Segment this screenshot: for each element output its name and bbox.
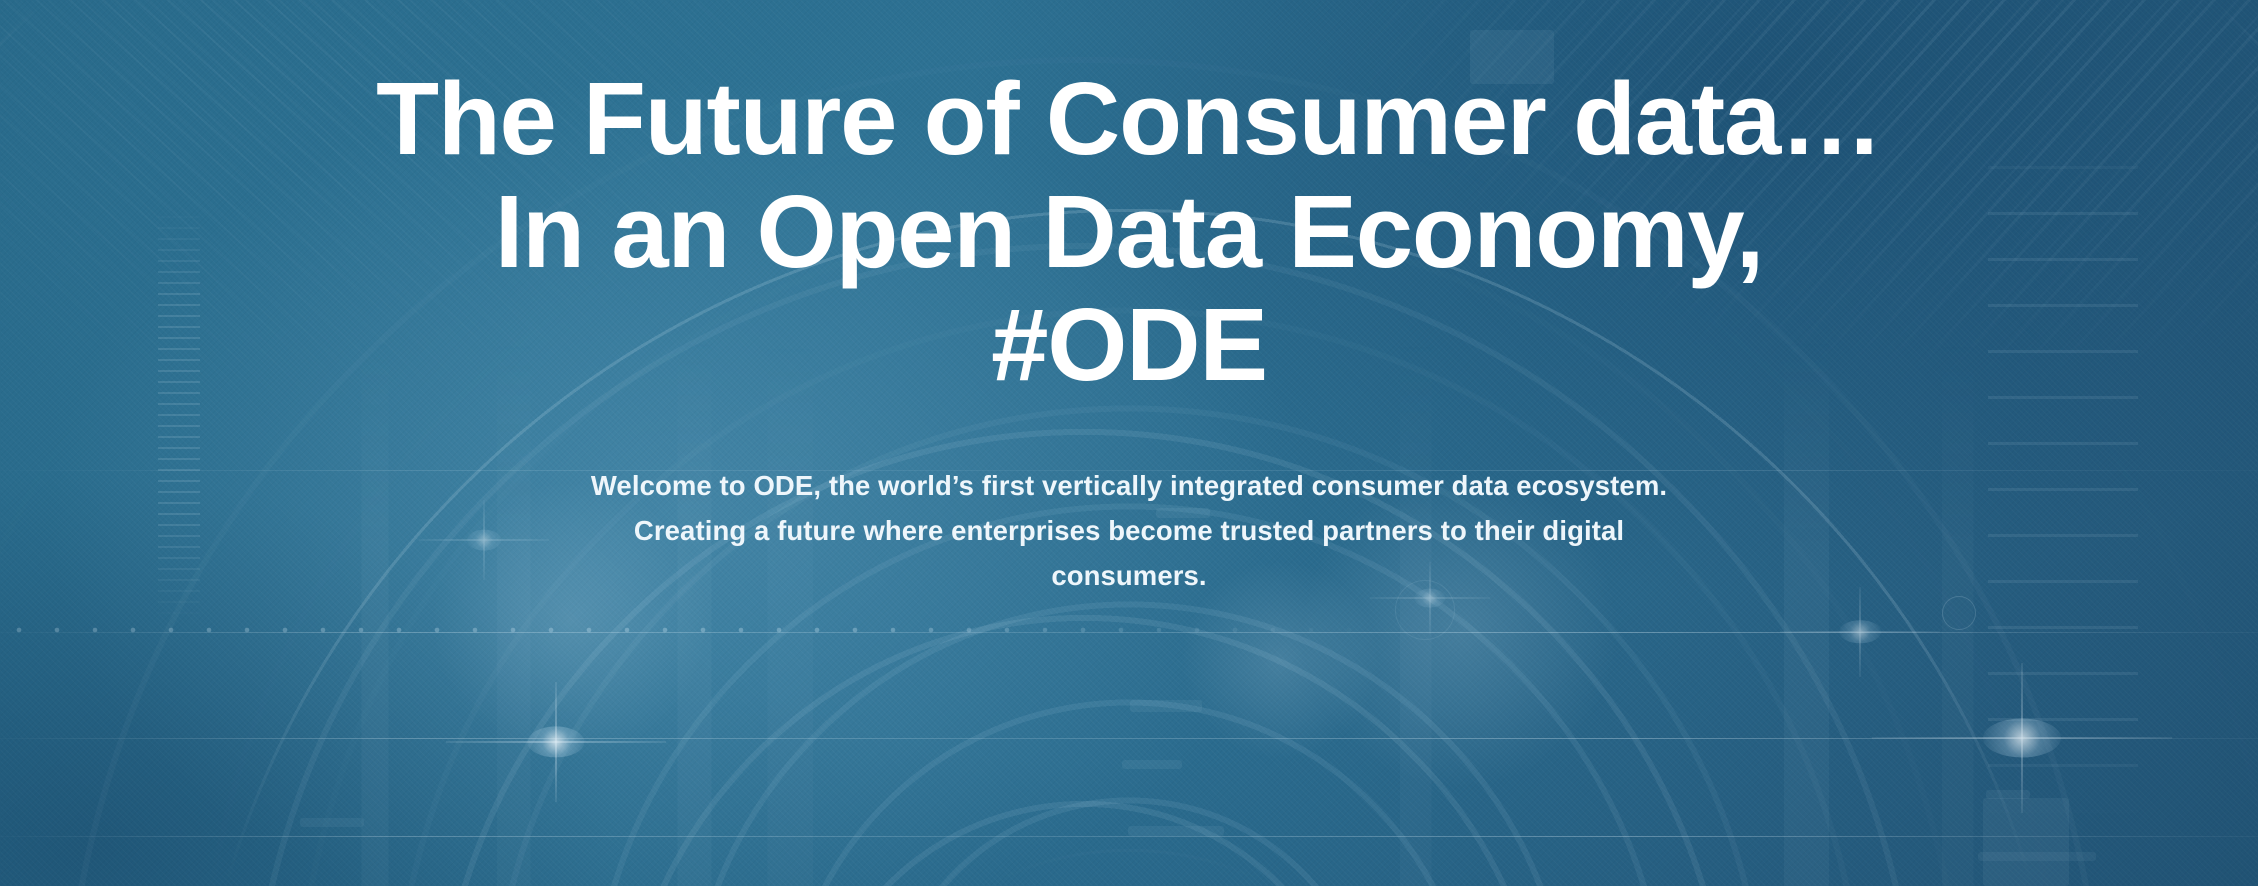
page-title-line-3: #ODE [0, 288, 2258, 401]
hero-subtitle-line-1: Welcome to ODE, the world’s first vertic… [534, 463, 1724, 508]
page-title-line-2: In an Open Data Economy, [0, 175, 2258, 288]
hero-banner: The Future of Consumer data… In an Open … [0, 0, 2258, 886]
page-title: The Future of Consumer data… In an Open … [0, 62, 2258, 401]
hero-subtitle-line-3: consumers. [534, 553, 1724, 598]
hero-content: The Future of Consumer data… In an Open … [0, 0, 2258, 886]
hero-subtitle-line-2: Creating a future where enterprises beco… [534, 508, 1724, 553]
page-title-line-1: The Future of Consumer data… [0, 62, 2258, 175]
hero-subtitle: Welcome to ODE, the world’s first vertic… [534, 463, 1724, 598]
